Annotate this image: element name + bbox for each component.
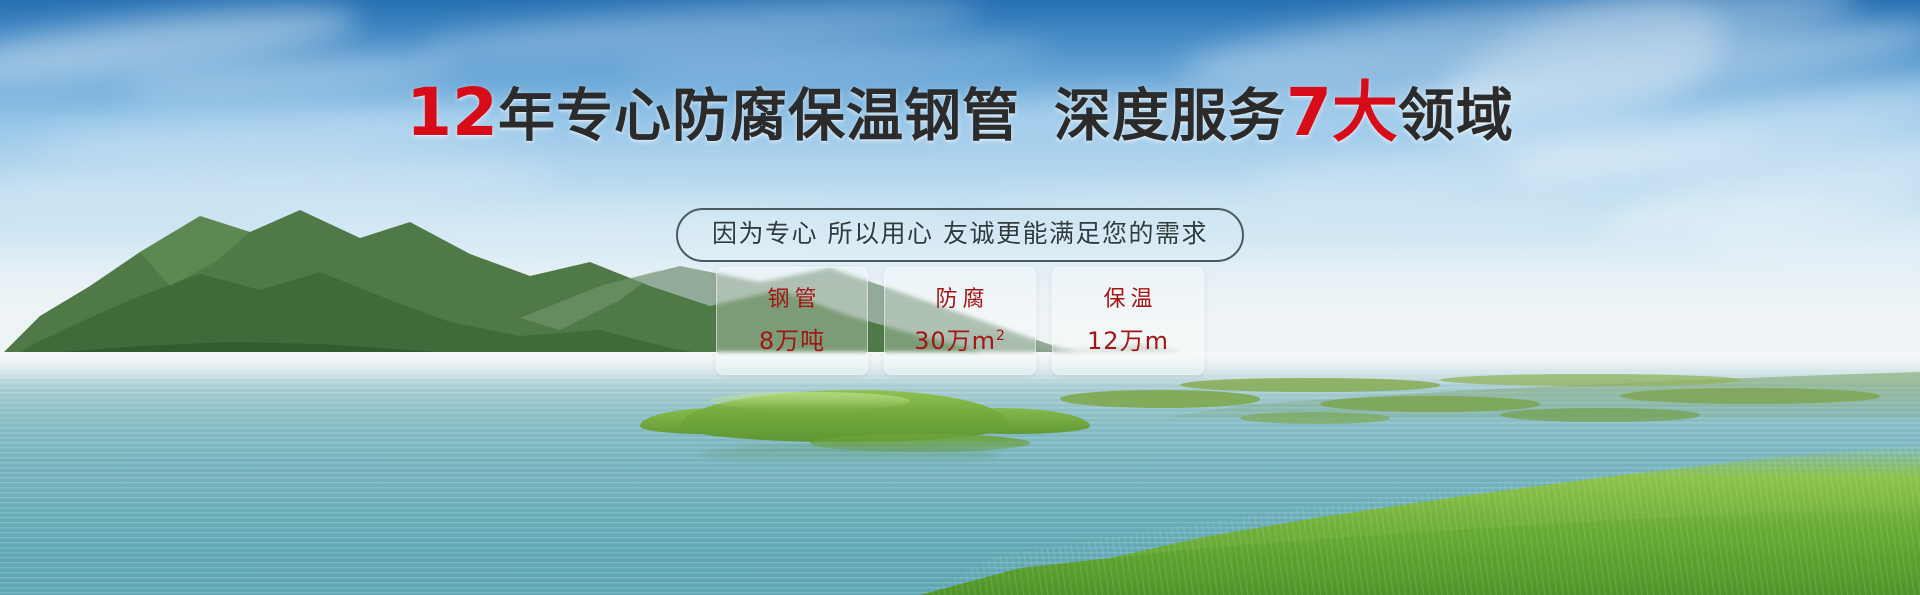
stat-value: 8万吨: [759, 327, 825, 355]
stat-label: 钢管: [762, 287, 821, 313]
subtitle-container: 因为专心 所以用心 友诚更能满足您的需求: [0, 208, 1920, 262]
stat-card-anticorrosion[interactable]: 防腐 30万m2: [884, 267, 1036, 375]
stat-value-text: 8万吨: [759, 327, 825, 355]
banner-content: 12年专心防腐保温钢管深度服务7大领域 因为专心 所以用心 友诚更能满足您的需求…: [0, 0, 1920, 595]
headline-fields-text: 领域: [1398, 83, 1514, 149]
stat-value-superscript: 2: [996, 328, 1006, 344]
stat-value-text: 30万m: [914, 327, 996, 355]
subtitle-pill: 因为专心 所以用心 友诚更能满足您的需求: [676, 208, 1244, 262]
stat-label: 保温: [1098, 287, 1157, 313]
stat-value-text: 12万m: [1087, 327, 1169, 355]
stat-card-steel-pipe[interactable]: 钢管 8万吨: [716, 267, 868, 375]
headline-years-number: 12: [406, 74, 498, 151]
stat-card-insulation[interactable]: 保温 12万m: [1052, 267, 1204, 375]
headline-fields-number: 7大: [1286, 74, 1398, 151]
headline: 12年专心防腐保温钢管深度服务7大领域: [0, 82, 1920, 147]
hero-banner: 12年专心防腐保温钢管深度服务7大领域 因为专心 所以用心 友诚更能满足您的需求…: [0, 0, 1920, 595]
stat-card-group: 钢管 8万吨 防腐 30万m2 保温 12万m: [0, 267, 1920, 375]
stat-value: 12万m: [1087, 327, 1169, 355]
headline-service-text: 深度服务: [1054, 83, 1286, 149]
headline-main-text: 年专心防腐保温钢管: [498, 83, 1020, 149]
stat-label: 防腐: [930, 287, 989, 313]
stat-value: 30万m2: [914, 327, 1006, 355]
